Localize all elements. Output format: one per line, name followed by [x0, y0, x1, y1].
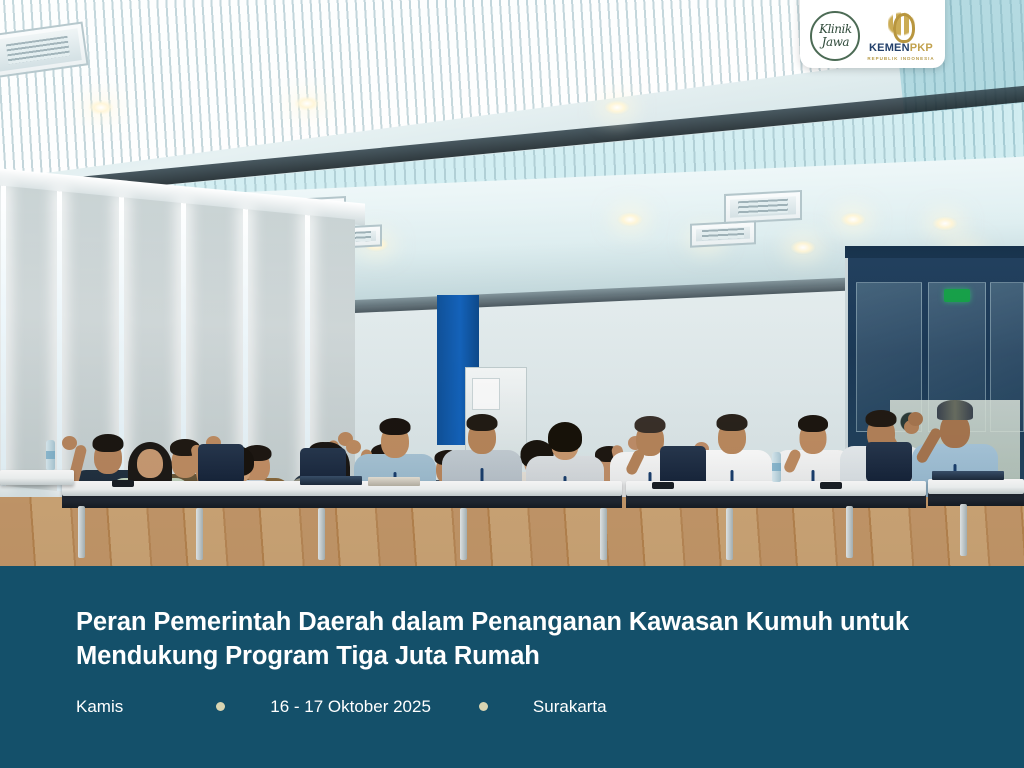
event-day: Kamis [76, 698, 123, 715]
downlight-icon [294, 96, 320, 111]
phone [112, 480, 134, 487]
kemen-pkp-logo-icon: KEMENPKP REPUBLIK INDONESIA [867, 7, 934, 61]
table-frame [62, 494, 622, 508]
table-leg [196, 508, 203, 560]
meeting-table [0, 470, 74, 485]
water-bottle [772, 452, 781, 482]
downlight-icon [840, 212, 866, 227]
table-frame [626, 494, 926, 508]
event-photo: Klinik Jawa KEMENPKP REPUBLIK INDONESIA [0, 0, 1024, 566]
downlight-icon [790, 240, 816, 255]
event-meta: Kamis 16 - 17 Oktober 2025 Surakarta [76, 698, 607, 715]
meta-separator-dot-1 [216, 702, 225, 711]
laptop [932, 471, 1004, 480]
kemen-emblem-icon [882, 7, 920, 41]
chair [866, 442, 912, 482]
downlight-icon [617, 212, 643, 227]
exit-sign-icon [944, 289, 970, 302]
ac-vent [690, 220, 756, 247]
downlight-icon [88, 100, 114, 115]
ac-vent [724, 190, 802, 224]
downlight-icon [604, 100, 630, 115]
event-date: 16 - 17 Oktober 2025 [270, 698, 431, 715]
klinik-logo-line2: Jawa [822, 35, 849, 49]
meta-separator-dot-2 [479, 702, 488, 711]
table-leg [726, 508, 733, 560]
laptop [300, 476, 362, 485]
phone [652, 482, 674, 489]
table-leg [78, 506, 85, 558]
laptop [368, 477, 420, 486]
kemen-word-1: KEMEN [869, 42, 910, 54]
table-leg [960, 504, 967, 556]
kemen-subtitle: REPUBLIK INDONESIA [867, 56, 934, 61]
kemen-word-2: PKP [910, 42, 933, 54]
klinik-logo-icon: Klinik Jawa [810, 11, 860, 61]
logo-lockup: Klinik Jawa KEMENPKP REPUBLIK INDONESIA [800, 0, 945, 68]
event-banner: Peran Pemerintah Daerah dalam Penanganan… [0, 566, 1024, 768]
chair [660, 446, 706, 486]
table-leg [460, 508, 467, 560]
meeting-table [928, 479, 1024, 494]
table-leg [600, 508, 607, 560]
event-title: Peran Pemerintah Daerah dalam Penanganan… [76, 606, 966, 674]
phone [820, 482, 842, 489]
event-city: Surakarta [533, 698, 607, 715]
table-leg [846, 506, 853, 558]
water-bottle [46, 440, 55, 470]
event-poster: Klinik Jawa KEMENPKP REPUBLIK INDONESIA … [0, 0, 1024, 768]
table-leg [318, 508, 325, 560]
table-frame [928, 492, 1024, 506]
chair [198, 444, 244, 484]
downlight-icon [932, 216, 958, 231]
